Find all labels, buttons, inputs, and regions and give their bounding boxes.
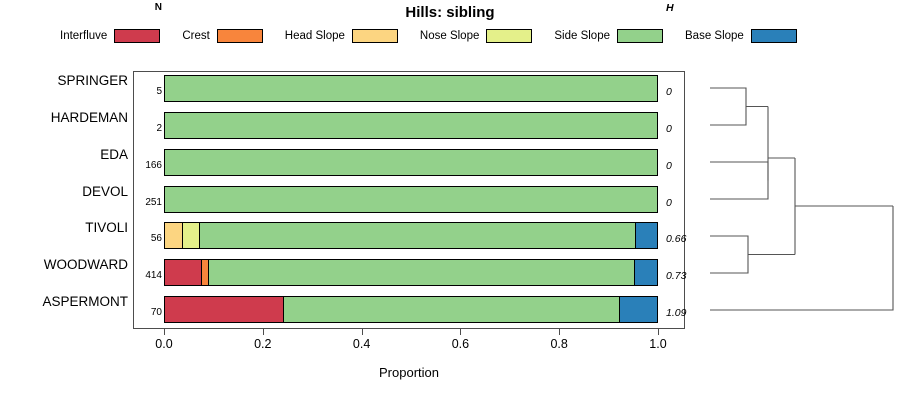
chart-title: Hills: sibling <box>0 4 900 21</box>
row-h-value: 0.66 <box>666 233 686 245</box>
legend-color-swatch <box>751 29 797 43</box>
dendro-link-tivoli-woodward <box>710 236 748 273</box>
bar-segment[interactable] <box>202 260 209 285</box>
bar-segment[interactable] <box>635 260 657 285</box>
bar-segment[interactable] <box>636 223 657 248</box>
row-category-label: ASPERMONT <box>42 294 128 309</box>
row-n-value: 70 <box>136 307 162 318</box>
row-h-value: 1.09 <box>666 307 686 319</box>
bar-segment[interactable] <box>165 113 657 138</box>
x-axis-tick-label: 0.2 <box>243 337 283 351</box>
bar-segment[interactable] <box>165 150 657 175</box>
row-h-value: 0 <box>666 197 672 209</box>
stacked-bar[interactable] <box>164 296 658 323</box>
legend-item[interactable]: Crest <box>182 29 262 43</box>
dendrogram <box>690 60 900 340</box>
legend-item[interactable]: Side Slope <box>554 29 663 43</box>
row-n-value: 5 <box>136 86 162 97</box>
stacked-bar[interactable] <box>164 75 658 102</box>
bar-segment[interactable] <box>165 76 657 101</box>
row-n-value: 166 <box>136 160 162 171</box>
stacked-bar[interactable] <box>164 112 658 139</box>
legend-color-swatch <box>352 29 398 43</box>
legend-item[interactable]: Nose Slope <box>420 29 532 43</box>
legend-item-label: Base Slope <box>685 30 744 42</box>
x-axis-tick <box>658 329 659 335</box>
bar-segment[interactable] <box>165 297 284 322</box>
x-axis-tick <box>559 329 560 335</box>
row-h-value: 0 <box>666 123 672 135</box>
bar-segment[interactable] <box>183 223 201 248</box>
x-axis-tick-label: 0.8 <box>539 337 579 351</box>
legend-item-label: Head Slope <box>285 30 345 42</box>
column-header-n: N <box>136 2 162 13</box>
bar-segment[interactable] <box>165 187 657 212</box>
legend-item[interactable]: Base Slope <box>685 29 797 43</box>
row-category-label: SPRINGER <box>57 73 128 88</box>
legend-color-swatch <box>617 29 663 43</box>
row-category-label: DEVOL <box>82 184 128 199</box>
column-header-h: H <box>666 2 674 14</box>
row-category-label: WOODWARD <box>44 257 128 272</box>
bar-segment[interactable] <box>200 223 635 248</box>
legend: InterfluveCrestHead SlopeNose SlopeSide … <box>60 26 840 46</box>
legend-color-swatch <box>486 29 532 43</box>
row-category-label: HARDEMAN <box>51 110 128 125</box>
x-axis-tick-label: 0.4 <box>342 337 382 351</box>
row-n-value: 251 <box>136 197 162 208</box>
x-axis-tick <box>362 329 363 335</box>
row-n-value: 2 <box>136 123 162 134</box>
row-n-value: 414 <box>136 270 162 281</box>
dendro-link-springer-hardeman <box>710 88 746 125</box>
bar-segment[interactable] <box>165 260 202 285</box>
legend-color-swatch <box>114 29 160 43</box>
stacked-bar[interactable] <box>164 149 658 176</box>
x-axis-tick-label: 1.0 <box>638 337 678 351</box>
bar-segment[interactable] <box>209 260 635 285</box>
stacked-bar[interactable] <box>164 186 658 213</box>
legend-item-label: Nose Slope <box>420 30 479 42</box>
x-axis-tick <box>460 329 461 335</box>
row-category-label: TIVOLI <box>85 220 128 235</box>
stacked-bar[interactable] <box>164 259 658 286</box>
legend-item-label: Crest <box>182 30 209 42</box>
bar-segment[interactable] <box>165 223 183 248</box>
stacked-bar[interactable] <box>164 222 658 249</box>
legend-item-label: Interfluve <box>60 30 107 42</box>
legend-item[interactable]: Interfluve <box>60 29 160 43</box>
dendro-link-root-aspermont <box>710 206 893 310</box>
x-axis-tick <box>263 329 264 335</box>
bar-segment[interactable] <box>620 297 657 322</box>
row-n-value: 56 <box>136 233 162 244</box>
x-axis: 0.00.20.40.60.81.0 <box>133 329 685 389</box>
x-axis-tick-label: 0.0 <box>144 337 184 351</box>
legend-color-swatch <box>217 29 263 43</box>
legend-item-label: Side Slope <box>554 30 610 42</box>
row-category-label: EDA <box>100 147 128 162</box>
dendro-link-eda-devol <box>710 162 768 199</box>
x-axis-label: Proportion <box>133 365 685 380</box>
bar-segment[interactable] <box>284 297 620 322</box>
legend-item[interactable]: Head Slope <box>285 29 398 43</box>
x-axis-tick <box>164 329 165 335</box>
row-h-value: 0 <box>666 160 672 172</box>
dendrogram-svg <box>690 60 900 340</box>
x-axis-tick-label: 0.6 <box>440 337 480 351</box>
row-h-value: 0.73 <box>666 270 686 282</box>
row-h-value: 0 <box>666 86 672 98</box>
chart-root: Hills: sibling InterfluveCrestHead Slope… <box>0 0 900 400</box>
